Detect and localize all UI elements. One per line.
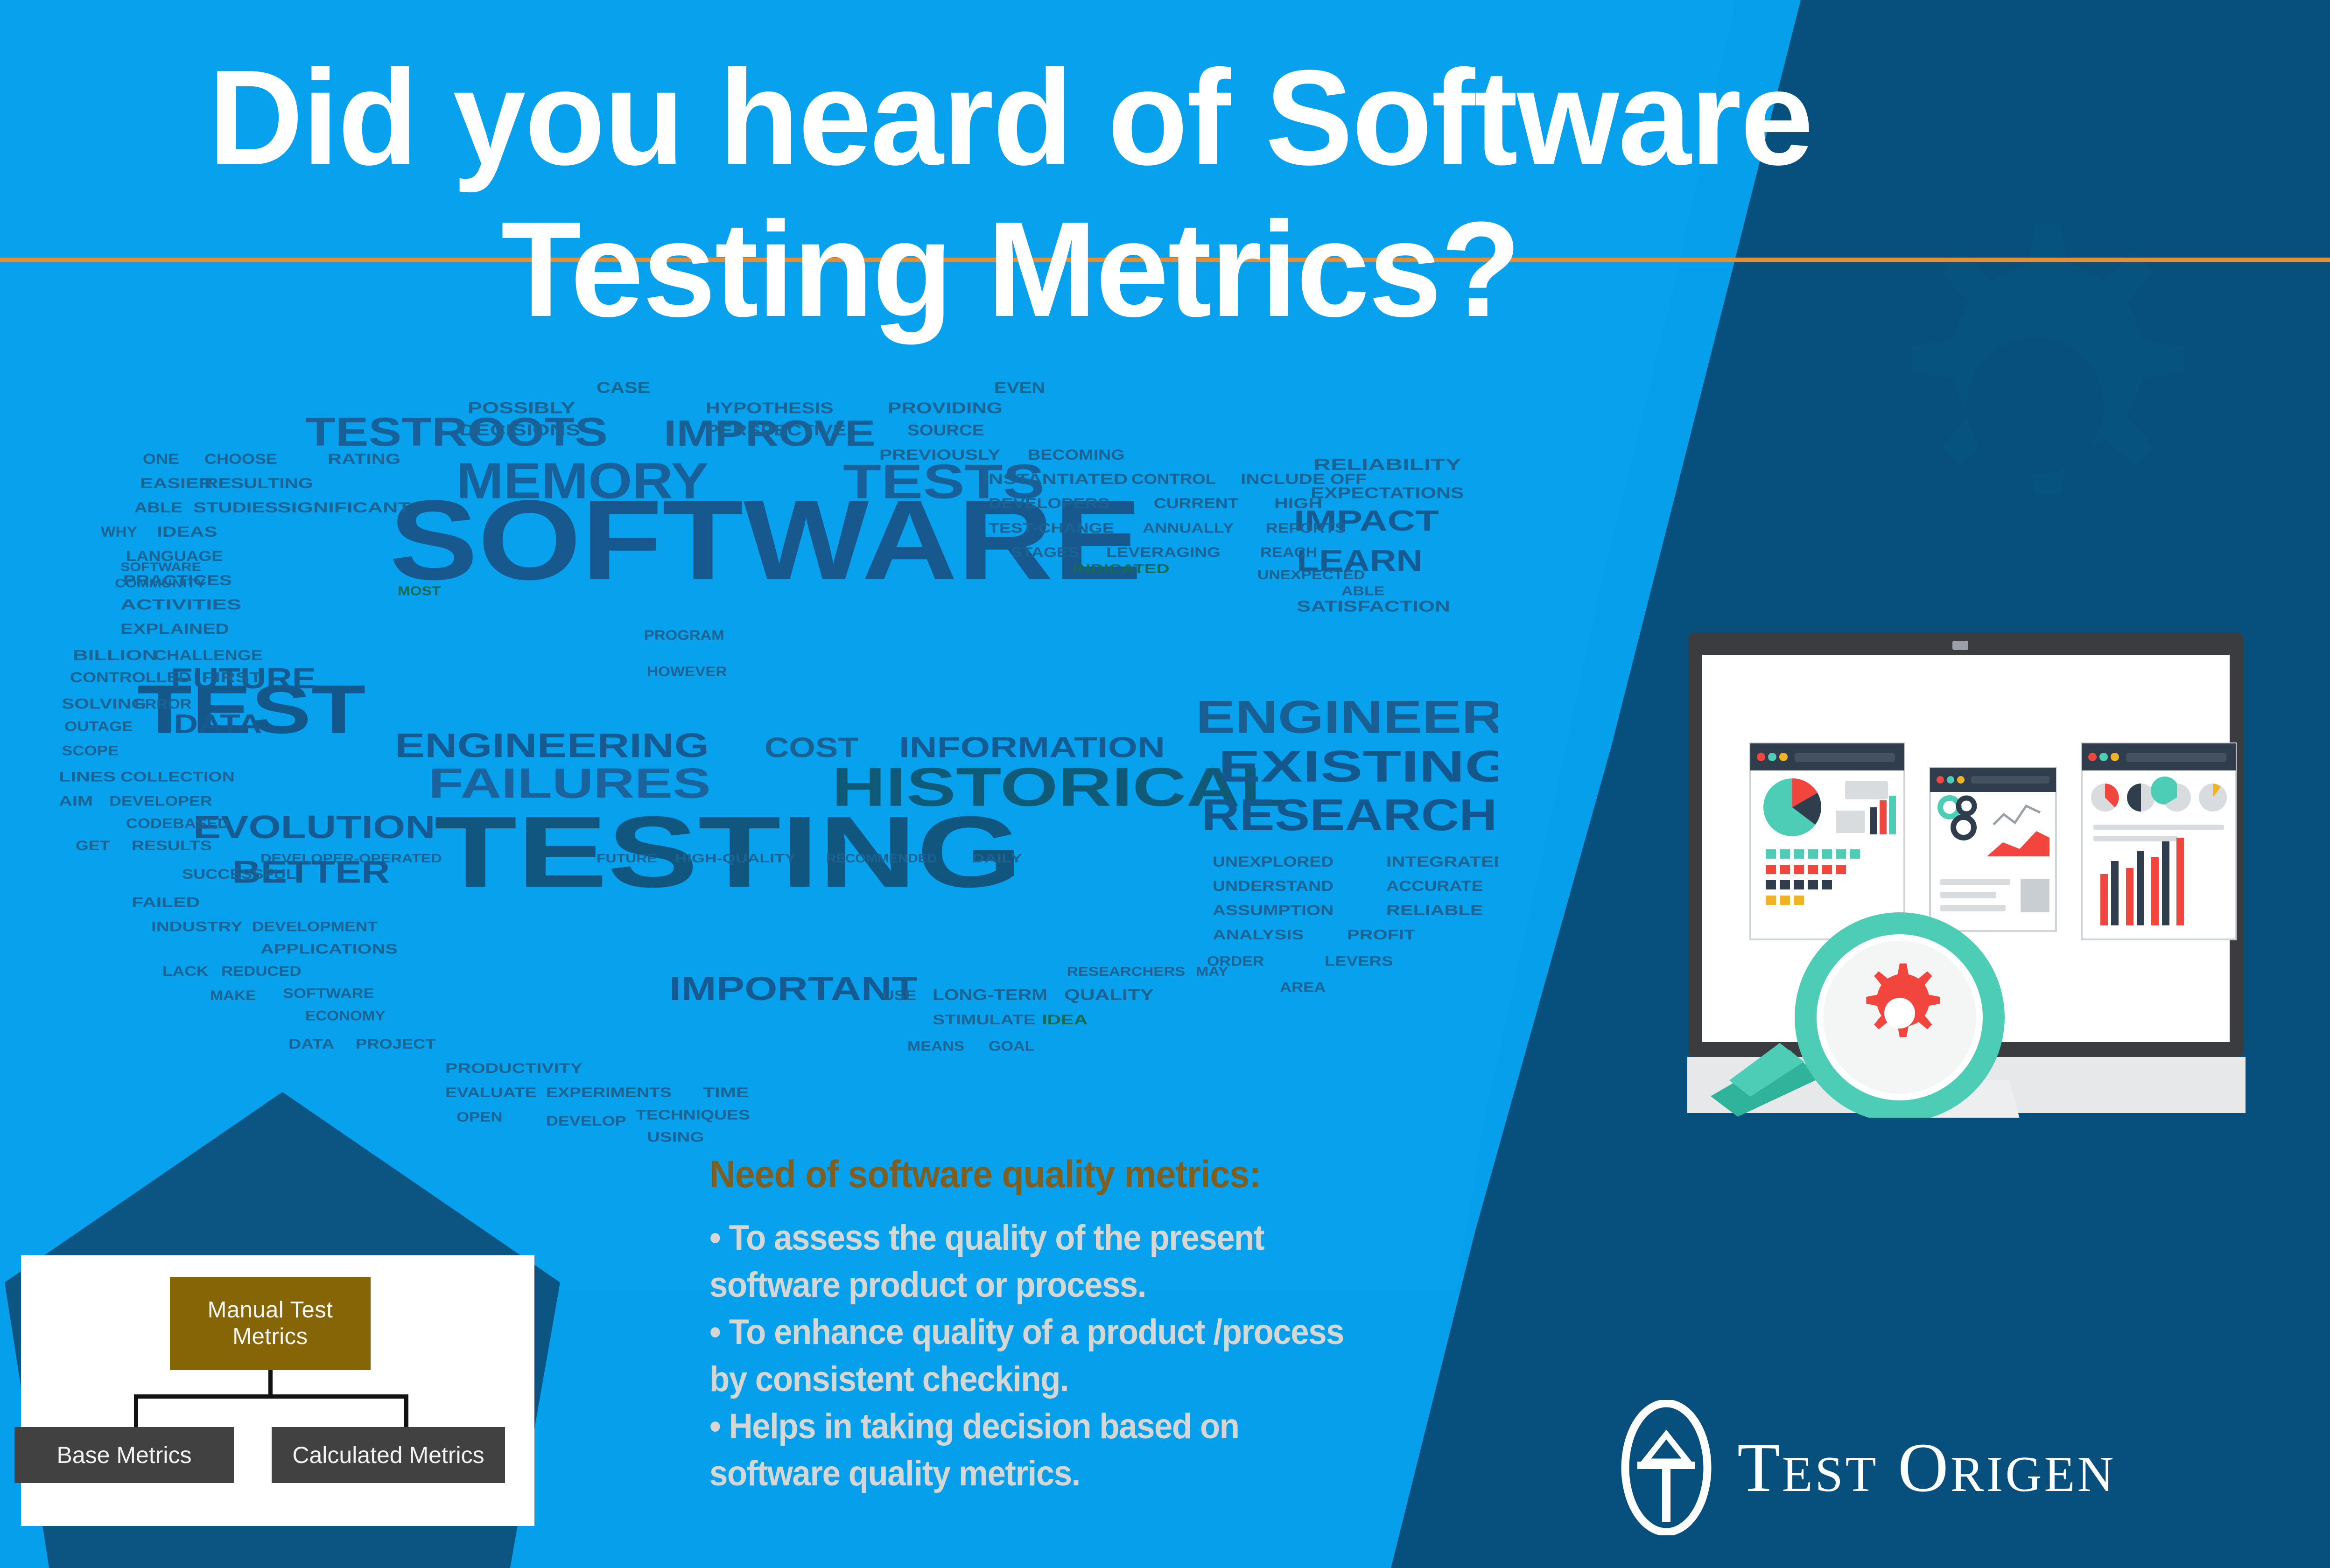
diagram-connector-vertical [268, 1370, 273, 1396]
word-cloud-term: UNEXPECTED [1257, 568, 1365, 582]
word-cloud-term: PROJECT [356, 1036, 436, 1052]
word-cloud-term: CASE [597, 378, 650, 397]
word-cloud-term: MEMORY [456, 453, 709, 509]
word-cloud-term: LEVERAGING [1106, 545, 1221, 560]
word-cloud-term: MAKE [210, 988, 256, 1003]
word-cloud-term: SOLVING [62, 695, 146, 712]
word-cloud-term: DATA [288, 1036, 334, 1052]
word-cloud-term: RESEARCHERS [1067, 965, 1185, 979]
gear-icon [1866, 963, 1940, 1037]
word-cloud-term: POSSIBLY [468, 399, 575, 417]
donut-and-bar-chart-window [2082, 743, 2236, 939]
word-cloud: SOFTWARETESTINGTESTHISTORICALMEMORYTESTS… [42, 369, 1498, 1162]
word-cloud-term: EXISTING [1218, 742, 1498, 791]
diagram-connector-right [404, 1394, 408, 1428]
word-cloud-term: ONE [143, 451, 179, 467]
word-cloud-term: IDEAS [157, 524, 218, 540]
word-cloud-term: PROVIDING [888, 399, 1003, 416]
word-cloud-term: EVALUATE [445, 1085, 537, 1100]
word-cloud-term: DEVELOPER-OPERATED [260, 852, 442, 865]
word-cloud-term: IMPORTANT [669, 970, 918, 1008]
word-cloud-term: ENGINEERS [1196, 691, 1498, 743]
need-section: Need of software quality metrics: • To a… [709, 1153, 1540, 1497]
word-cloud-term: PROFIT [1347, 927, 1416, 942]
need-bullet-2: • To enhance quality of a product /proce… [709, 1309, 1482, 1403]
word-cloud-term: UNDERSTAND [1213, 878, 1333, 894]
need-section-title: Need of software quality metrics: [709, 1153, 1490, 1197]
test-origen-monogram-icon [1620, 1400, 1713, 1535]
word-cloud-term: COLLECTION [120, 769, 235, 784]
diagram-root-node: Manual Test Metrics [170, 1277, 371, 1370]
word-cloud-term: AREA [1280, 980, 1326, 995]
word-cloud-term: PREVIOUSLY [879, 447, 1000, 463]
word-cloud-term: MOST [398, 584, 441, 599]
word-cloud-term: STAGES [1011, 545, 1079, 560]
word-cloud-term: DATA [174, 708, 262, 739]
word-cloud-term: BECOMING [1028, 447, 1125, 463]
word-cloud-term: SOFTWARE [283, 986, 374, 1001]
word-cloud-term: MEANS [907, 1038, 964, 1054]
word-cloud-term: HIGH-QUALITY [675, 852, 796, 865]
manual-test-metrics-diagram: Manual Test Metrics Base Metrics Calcula… [21, 1255, 534, 1526]
word-cloud-term: ACCURATE [1386, 878, 1483, 894]
word-cloud-term: PROGRAM [644, 628, 724, 643]
word-cloud-term: CHOOSE [204, 451, 277, 467]
word-cloud-term: DEVELOPER [109, 793, 212, 809]
word-cloud-term: DECISIONS [459, 421, 580, 439]
diagram-connector-horizontal [134, 1394, 408, 1399]
word-cloud-term: LONG-TERM [933, 987, 1047, 1003]
word-cloud-term: HYPOTHESIS [706, 399, 834, 416]
word-cloud-term: ACTIVITIES [120, 596, 241, 613]
word-cloud-term: ABLE [134, 499, 182, 516]
word-cloud-term: IDEA [1042, 1012, 1088, 1028]
word-cloud-term: STIMULATE [933, 1012, 1036, 1028]
word-cloud-term: INDICATED [1073, 562, 1170, 576]
word-cloud-term: CONTROLLED [70, 669, 191, 686]
diagram-leaf-base-metrics: Base Metrics [14, 1427, 234, 1483]
word-cloud-term: BILLION [73, 647, 157, 663]
word-cloud-term: REACH [1260, 545, 1317, 560]
word-cloud-term: CONTROL [1131, 471, 1216, 487]
word-cloud-term: SIGNIFICANT [277, 499, 411, 516]
test-origen-logo[interactable]: TEST ORIGEN [1620, 1391, 2282, 1545]
word-cloud-term: CHALLENGE [154, 647, 263, 663]
word-cloud-term: COMMUNITY [115, 576, 205, 590]
gear-and-line-chart-window [1930, 768, 2056, 931]
logo-wordmark: TEST ORIGEN [1737, 1428, 2116, 1508]
word-cloud-term: EASIER [140, 475, 213, 491]
word-cloud-term: DEVELOPERS [989, 495, 1109, 511]
word-cloud-term: GOAL [989, 1038, 1034, 1054]
word-cloud-term: FAILED [132, 895, 200, 910]
word-cloud-term: MAY [1196, 965, 1228, 979]
word-cloud-term: FIRST [202, 669, 262, 686]
logo-word-test-cap: T [1737, 1428, 1782, 1508]
word-cloud-term: ANNUALLY [1143, 520, 1234, 536]
word-cloud-term: RELIABLE [1386, 902, 1483, 918]
word-cloud-term: HIGH [1274, 495, 1322, 511]
word-cloud-term: APPLICATIONS [260, 941, 398, 957]
word-cloud-term: SATISFACTION [1297, 598, 1450, 615]
word-cloud-term: ERROR [134, 696, 191, 712]
word-cloud-term: LACK [162, 964, 209, 979]
monitor-camera [1952, 641, 1968, 650]
word-cloud-term: PERSPECTIVE [706, 422, 846, 439]
word-cloud-term: UNEXPLORED [1213, 854, 1333, 870]
word-cloud-term: INTEGRATED [1386, 854, 1498, 870]
word-cloud-term: DEVELOP [546, 1113, 626, 1128]
word-cloud-term: REDUCED [221, 964, 302, 979]
word-cloud-term: GET [76, 838, 110, 854]
word-cloud-term: FUTURE [597, 852, 657, 865]
word-cloud-term: ASSUMPTION [1213, 902, 1333, 918]
page-title-line-1: Did you heard of Software [30, 42, 1991, 194]
word-cloud-term: RESEARCH [1201, 790, 1497, 840]
word-cloud-term: EXPECTATIONS [1311, 485, 1464, 502]
word-cloud-term: INCLUDE [1241, 471, 1325, 487]
word-cloud-term: REPORTS [1266, 520, 1346, 536]
word-cloud-term: SOURCE [907, 422, 984, 439]
word-cloud-term: SOFTWARE [120, 560, 201, 574]
word-cloud-term: HOWEVER [647, 664, 727, 679]
need-bullet-list: • To assess the quality of the present s… [709, 1214, 1540, 1497]
word-cloud-term: LINES [59, 769, 116, 784]
word-cloud-term: DEVELOPMENT [252, 919, 378, 934]
word-cloud-term: OPEN [456, 1109, 502, 1125]
page-title: Did you heard of Software Testing Metric… [30, 42, 1991, 345]
word-cloud-term: CURRENT [1154, 495, 1238, 511]
word-cloud-term: EVOLUTION [193, 809, 435, 845]
logo-word-origen-rest: RIGEN [1950, 1446, 2116, 1504]
word-cloud-term: RECOMMENDED [826, 852, 937, 865]
word-cloud-term: RATING [328, 451, 400, 467]
word-cloud-term: ABLE [1341, 584, 1384, 599]
word-cloud-term: OFF [1330, 471, 1367, 487]
logo-word-test-rest: EST [1782, 1446, 1879, 1504]
pie-chart-window [1750, 743, 1904, 939]
word-cloud-term: PRODUCTIVITY [445, 1061, 582, 1076]
word-cloud-term: EVEN [994, 379, 1045, 396]
word-cloud-term: ENGINEERING [395, 726, 709, 765]
page-title-line-2: Testing Metrics? [30, 194, 1991, 345]
word-cloud-term: OUTAGE [64, 719, 133, 734]
word-cloud-term: TEST-CHANGE [989, 520, 1114, 536]
word-cloud-term: SCOPE [62, 743, 119, 758]
logo-word-origen-cap: O [1898, 1428, 1950, 1508]
word-cloud-term: WHY [101, 524, 137, 540]
word-cloud-term: RESULTING [204, 475, 313, 491]
word-cloud-term: QUALITY [1064, 987, 1154, 1003]
need-bullet-3: • Helps in taking decision based on soft… [709, 1403, 1482, 1497]
word-cloud-term: INFORMATION [899, 731, 1165, 763]
word-cloud-term: TECHNIQUES [636, 1107, 750, 1122]
word-cloud-term: TIME [703, 1085, 749, 1100]
word-cloud-term: EXPERIMENTS [546, 1085, 672, 1100]
word-cloud-term: SUCCESSFUL [182, 866, 296, 882]
monitor-illustration [1655, 595, 2266, 1118]
word-cloud-term: FAILURES [428, 759, 711, 807]
word-cloud-term: LEVERS [1325, 953, 1393, 969]
word-cloud-term: EXPLAINED [120, 621, 229, 637]
diagram-leaf-calculated-metrics: Calculated Metrics [272, 1427, 505, 1483]
word-cloud-term: DAILY [972, 852, 1022, 865]
infographic-canvas: Did you heard of Software Testing Metric… [0, 0, 2330, 1568]
word-cloud-term: USING [647, 1129, 704, 1145]
need-bullet-1: • To assess the quality of the present s… [709, 1214, 1482, 1309]
word-cloud-term: CODEBASED [126, 816, 229, 831]
word-cloud-term: INDUSTRY [151, 919, 243, 934]
diagram-connector-left [134, 1394, 138, 1428]
word-cloud-term: AIM [59, 793, 93, 809]
word-cloud-term: STUDIES [193, 499, 278, 516]
word-cloud-term: INSTANTIATED [983, 471, 1128, 487]
word-cloud-term: ANALYSIS [1213, 927, 1304, 942]
word-cloud-term: COST [765, 732, 859, 763]
word-cloud-term: ECONOMY [305, 1008, 386, 1023]
word-cloud-term: RESULTS [132, 838, 212, 854]
word-cloud-term: USE [882, 988, 916, 1003]
